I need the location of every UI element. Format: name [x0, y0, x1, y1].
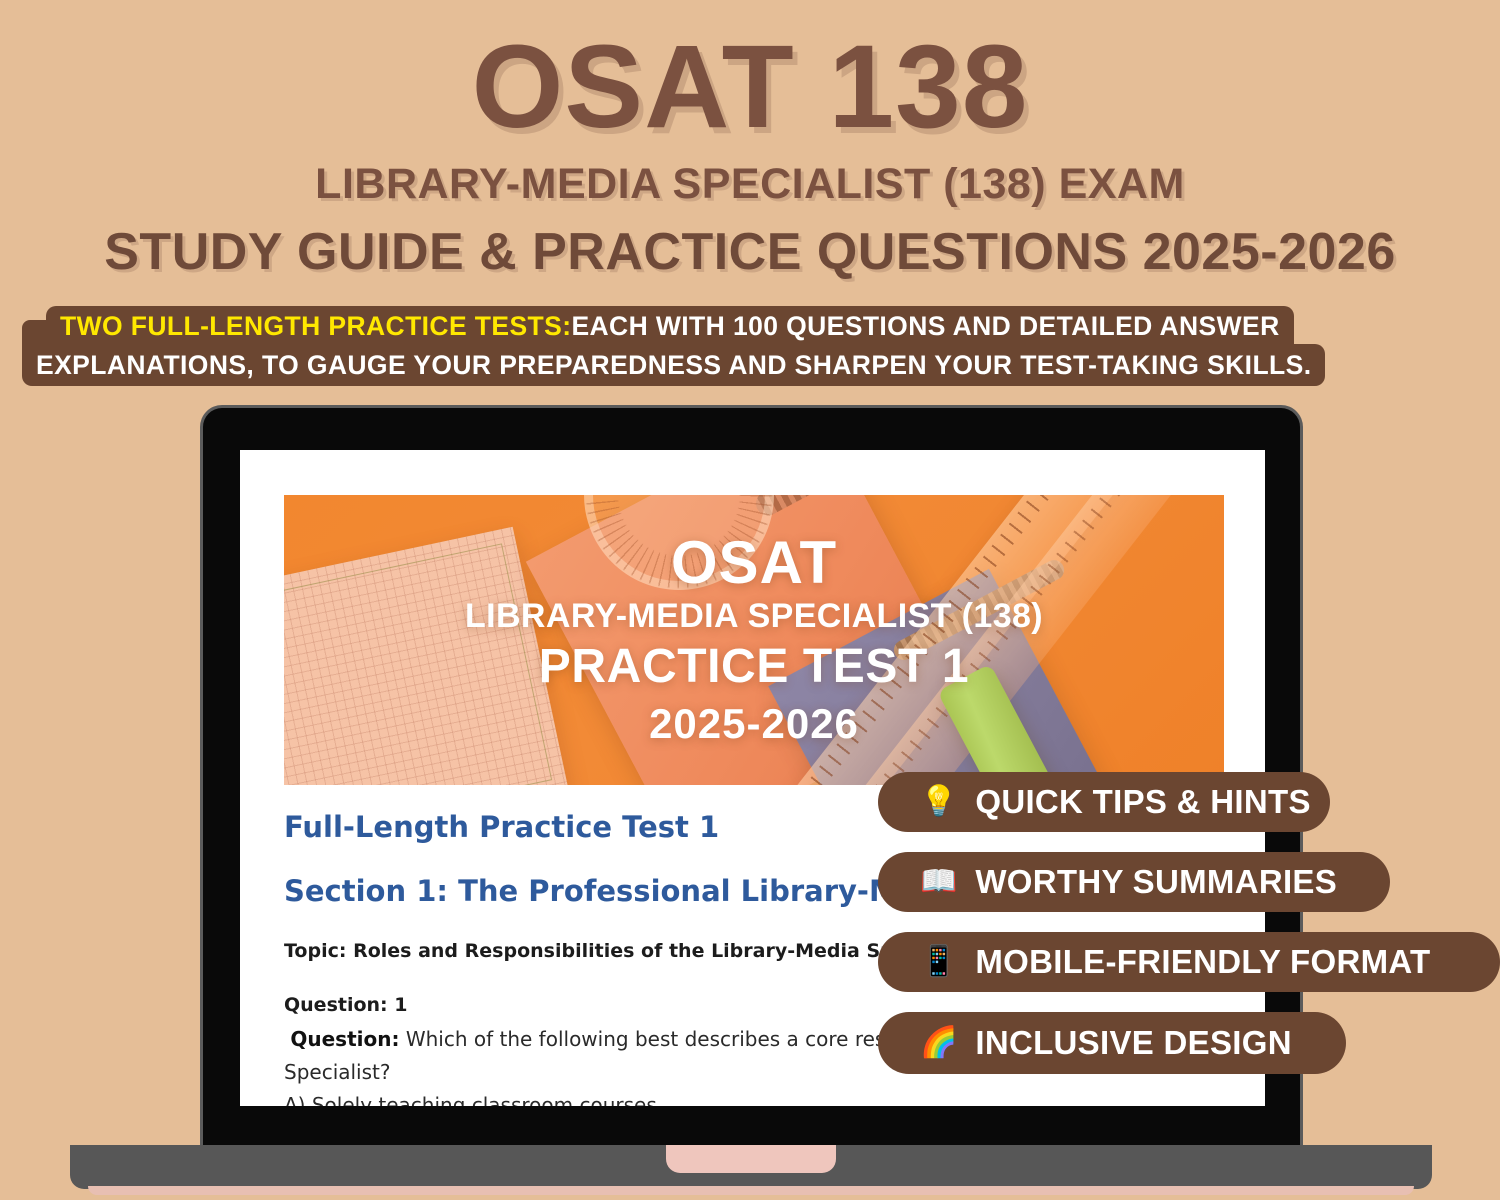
cover-subtitle: LIBRARY-MEDIA SPECIALIST (138) — [465, 595, 1043, 638]
feature-badge-label: QUICK TIPS & HINTS — [975, 783, 1310, 821]
ebook-cover-image: OSAT LIBRARY-MEDIA SPECIALIST (138) PRAC… — [284, 495, 1224, 785]
feature-badge-inclusive-design[interactable]: 🌈 INCLUSIVE DESIGN — [878, 1012, 1346, 1074]
feature-badge-worthy-summaries[interactable]: 📖 WORTHY SUMMARIES — [878, 852, 1390, 912]
lightbulb-icon: 💡 — [920, 787, 957, 817]
rainbow-icon: 🌈 — [920, 1028, 957, 1058]
ebook-cover-text: OSAT LIBRARY-MEDIA SPECIALIST (138) PRAC… — [284, 495, 1224, 785]
feature-badge-quick-tips[interactable]: 💡 QUICK TIPS & HINTS — [878, 772, 1330, 832]
mobile-phone-icon: 📱 — [920, 947, 957, 977]
feature-badge-label: INCLUSIVE DESIGN — [975, 1024, 1292, 1062]
laptop-foot — [88, 1186, 1414, 1195]
feature-badge-mobile-friendly[interactable]: 📱 MOBILE-FRIENDLY FORMAT — [878, 932, 1500, 992]
cover-year: 2025-2026 — [649, 700, 859, 748]
answer-option-a: A) Solely teaching classroom courses — [284, 1090, 1224, 1106]
feature-badge-label: WORTHY SUMMARIES — [975, 863, 1337, 901]
laptop-trackpad-notch — [666, 1145, 836, 1173]
feature-badge-label: MOBILE-FRIENDLY FORMAT — [975, 943, 1430, 981]
cover-test-label: PRACTICE TEST 1 — [539, 640, 969, 694]
bookmark-book-icon: 📖 — [920, 867, 957, 897]
question-label: Question: — [290, 1027, 399, 1051]
cover-title: OSAT — [671, 532, 837, 593]
